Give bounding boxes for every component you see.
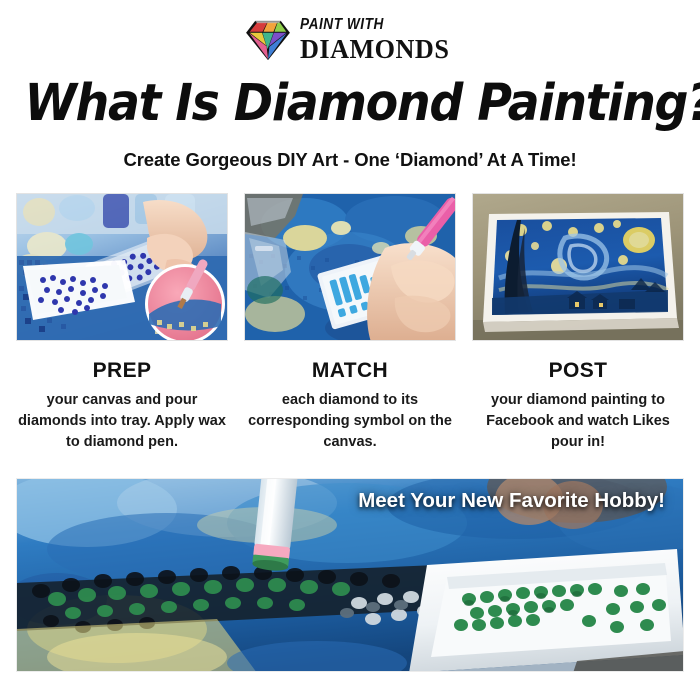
step-prep-title: PREP: [16, 359, 228, 383]
step-match: MATCH each diamond to its corresponding …: [244, 193, 456, 453]
bottom-banner: Meet Your New Favorite Hobby!: [16, 478, 684, 672]
diamond-gem-icon: [245, 19, 291, 61]
step-match-title: MATCH: [244, 359, 456, 383]
brand-logo: PAINT WITH DIAMONDS: [0, 0, 700, 72]
step-match-photo: [244, 193, 456, 341]
step-prep-body: your canvas and pour diamonds into tray.…: [16, 390, 228, 453]
banner-headline: Meet Your New Favorite Hobby!: [358, 489, 665, 513]
step-prep-photo: [16, 193, 228, 341]
page-subtitle: Create Gorgeous DIY Art - One ‘Diamond’ …: [0, 149, 700, 171]
step-prep: PREP your canvas and pour diamonds into …: [16, 193, 228, 453]
step-post: POST your diamond painting to Facebook a…: [472, 193, 684, 453]
step-match-body: each diamond to its corresponding symbol…: [244, 390, 456, 453]
step-post-photo: [472, 193, 684, 341]
logo-paint-with-text: PAINT WITH: [300, 17, 436, 33]
step-post-title: POST: [472, 359, 684, 383]
steps-row: PREP your canvas and pour diamonds into …: [0, 193, 700, 453]
logo-diamonds-text: DIAMONDS: [300, 36, 449, 63]
step-post-body: your diamond painting to Facebook and wa…: [472, 390, 684, 453]
page-title: What Is Diamond Painting?: [25, 74, 676, 133]
